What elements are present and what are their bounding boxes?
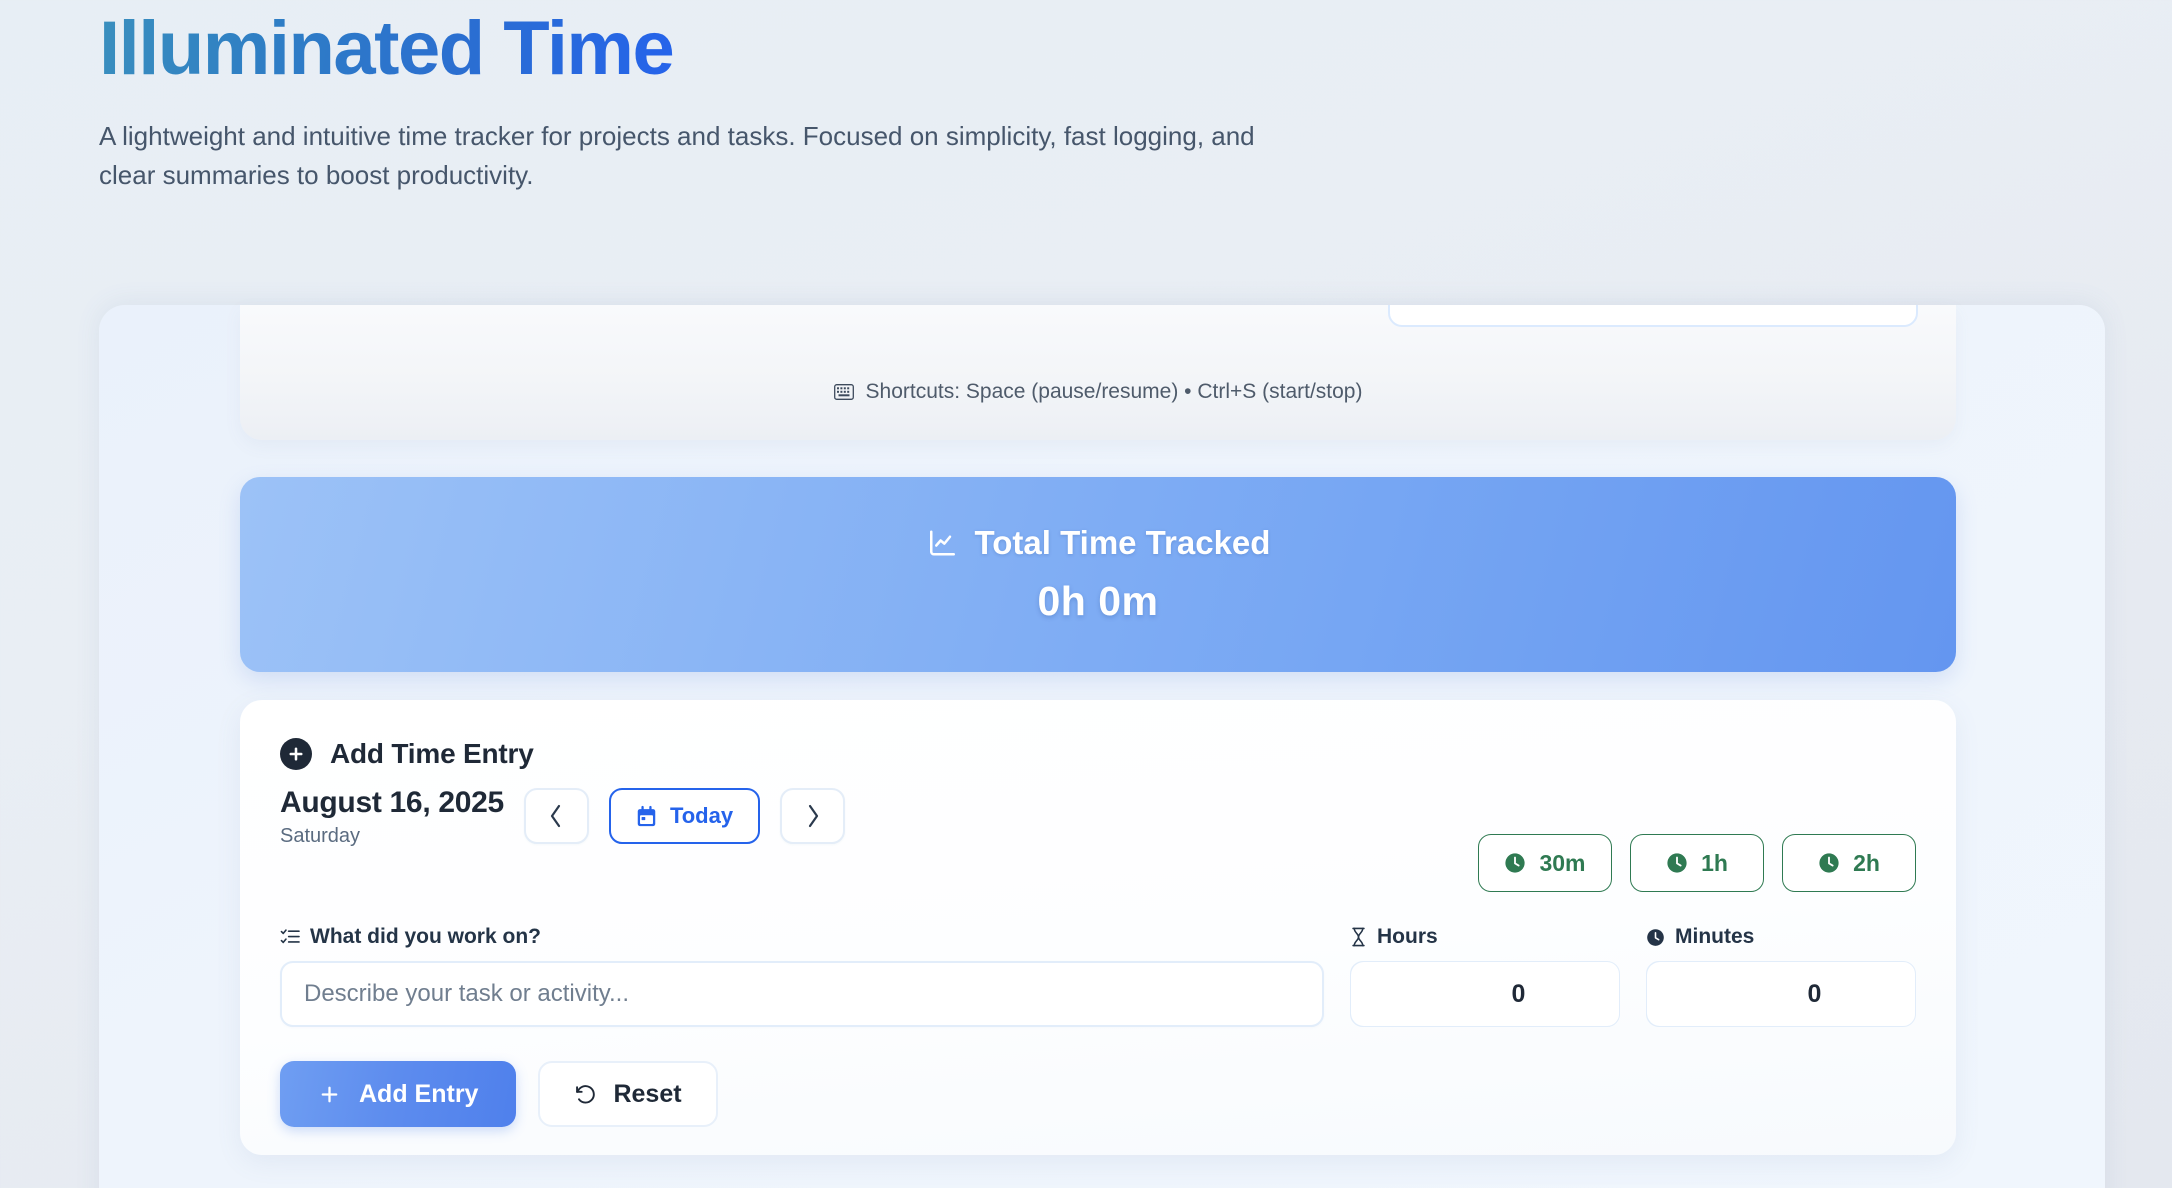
- reset-button[interactable]: Reset: [538, 1061, 717, 1127]
- clock-icon: [1646, 928, 1665, 947]
- total-time-label: Total Time Tracked: [975, 524, 1271, 562]
- hours-input[interactable]: [1351, 962, 1620, 1026]
- chart-line-icon: [926, 528, 959, 558]
- minutes-input-wrapper: m: [1646, 961, 1916, 1027]
- clock-icon: [1818, 852, 1840, 874]
- minutes-input[interactable]: [1647, 962, 1916, 1026]
- total-time-title-row: Total Time Tracked: [926, 524, 1271, 562]
- add-time-entry-header: Add Time Entry: [280, 738, 1916, 770]
- page-subtitle: A lightweight and intuitive time tracker…: [99, 117, 1259, 194]
- hours-field-group: Hours h: [1350, 925, 1620, 1027]
- quick-duration-30m[interactable]: 30m: [1478, 834, 1612, 892]
- entry-fields-row: What did you work on? Hours h: [280, 925, 1916, 1027]
- minutes-field-group: Minutes m: [1646, 925, 1916, 1027]
- minutes-field-label: Minutes: [1675, 925, 1754, 949]
- today-button[interactable]: Today: [609, 788, 760, 844]
- clock-icon: [1504, 852, 1526, 874]
- quick-duration-1h-label: 1h: [1701, 850, 1728, 877]
- hours-input-wrapper: h: [1350, 961, 1620, 1027]
- chevron-right-icon: [805, 803, 821, 829]
- page-header: Illuminated Time A lightweight and intui…: [0, 0, 2172, 194]
- chevron-left-icon: [548, 803, 564, 829]
- task-field-label-row: What did you work on?: [280, 925, 1324, 949]
- reset-button-label: Reset: [613, 1080, 681, 1109]
- prev-day-button[interactable]: [524, 788, 589, 844]
- total-time-value: 0h 0m: [1038, 578, 1159, 625]
- calendar-icon: [636, 805, 657, 828]
- clock-icon: [1666, 852, 1688, 874]
- timer-task-input[interactable]: [1388, 305, 1918, 327]
- hours-field-label: Hours: [1377, 925, 1438, 949]
- today-button-label: Today: [670, 803, 733, 829]
- shortcuts-text: Shortcuts: Space (pause/resume) • Ctrl+S…: [866, 380, 1363, 404]
- selected-date-block: August 16, 2025 Saturday: [280, 784, 504, 848]
- date-nav-left: August 16, 2025 Saturday: [280, 784, 845, 848]
- keyboard-shortcuts-hint: Shortcuts: Space (pause/resume) • Ctrl+S…: [240, 380, 1956, 404]
- add-entry-button-label: Add Entry: [359, 1080, 478, 1109]
- plus-circle-icon: [280, 738, 312, 770]
- page-title: Illuminated Time: [99, 0, 673, 91]
- keyboard-icon: [834, 384, 854, 400]
- quick-duration-1h[interactable]: 1h: [1630, 834, 1764, 892]
- quick-duration-30m-label: 30m: [1539, 850, 1585, 877]
- task-field-group: What did you work on?: [280, 925, 1324, 1027]
- add-time-entry-title: Add Time Entry: [330, 738, 534, 770]
- quick-duration-2h-label: 2h: [1853, 850, 1880, 877]
- selected-weekday: Saturday: [280, 825, 504, 848]
- add-entry-button[interactable]: Add Entry: [280, 1061, 516, 1127]
- list-checks-icon: [280, 928, 300, 946]
- add-time-entry-card: Add Time Entry August 16, 2025 Saturday: [240, 700, 1956, 1155]
- total-time-banner: Total Time Tracked 0h 0m: [240, 477, 1956, 672]
- undo-icon: [574, 1083, 597, 1106]
- minutes-field-label-row: Minutes: [1646, 925, 1916, 949]
- hours-field-label-row: Hours: [1350, 925, 1620, 949]
- entry-actions-row: Add Entry Reset: [280, 1061, 1916, 1127]
- task-field-label: What did you work on?: [310, 925, 541, 949]
- plus-icon: [318, 1083, 341, 1106]
- hourglass-icon: [1350, 927, 1367, 947]
- quick-duration-buttons: 30m 1h 2h: [1478, 784, 1916, 892]
- next-day-button[interactable]: [780, 788, 845, 844]
- selected-date: August 16, 2025: [280, 786, 504, 820]
- task-description-input[interactable]: [280, 961, 1324, 1027]
- date-navigation-row: August 16, 2025 Saturday: [280, 784, 1916, 892]
- quick-duration-2h[interactable]: 2h: [1782, 834, 1916, 892]
- timer-card: Shortcuts: Space (pause/resume) • Ctrl+S…: [240, 305, 1956, 440]
